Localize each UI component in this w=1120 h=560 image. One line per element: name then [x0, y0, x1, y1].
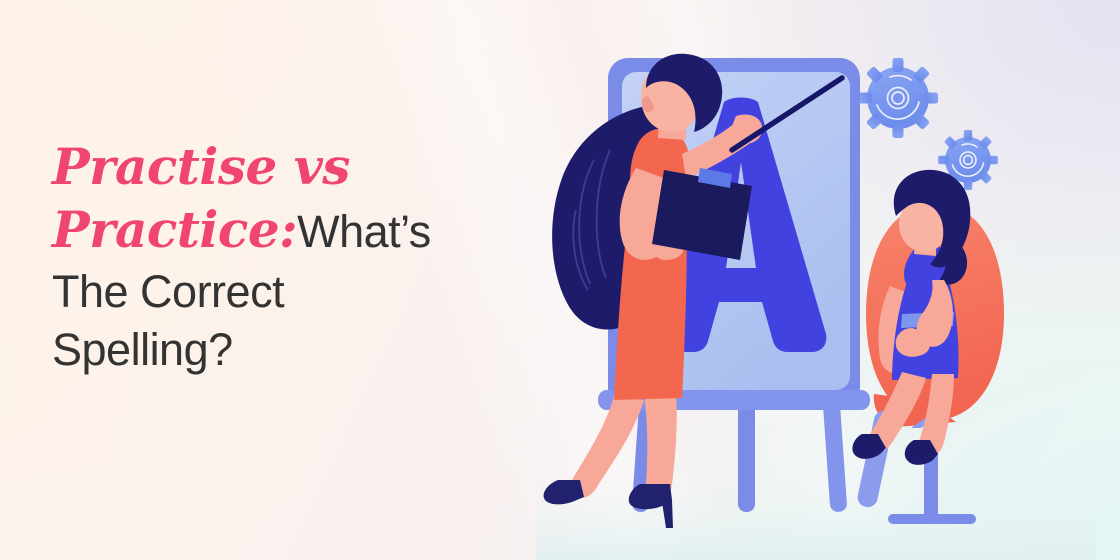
- headline-line-2-sans: What’s: [297, 206, 431, 257]
- floor-shadow: [536, 480, 1096, 560]
- headline-line-2-script: Practice:: [52, 200, 297, 259]
- student-hand: [896, 328, 931, 357]
- gear-large-icon: [858, 58, 938, 138]
- headline-line-4: Spelling?: [52, 321, 482, 379]
- teacher-front-leg: [644, 392, 677, 499]
- classroom-illustration: [536, 28, 1096, 560]
- headline-line-2: Practice:What’s: [52, 205, 482, 255]
- headline-line-1: Practise vs: [52, 142, 482, 192]
- headline-line-3: The Correct: [52, 263, 482, 321]
- headline-block: Practise vs Practice:What’s The Correct …: [52, 142, 482, 379]
- illustration-svg: [536, 28, 1096, 560]
- article-hero-banner: Practise vs Practice:What’s The Correct …: [0, 0, 1120, 560]
